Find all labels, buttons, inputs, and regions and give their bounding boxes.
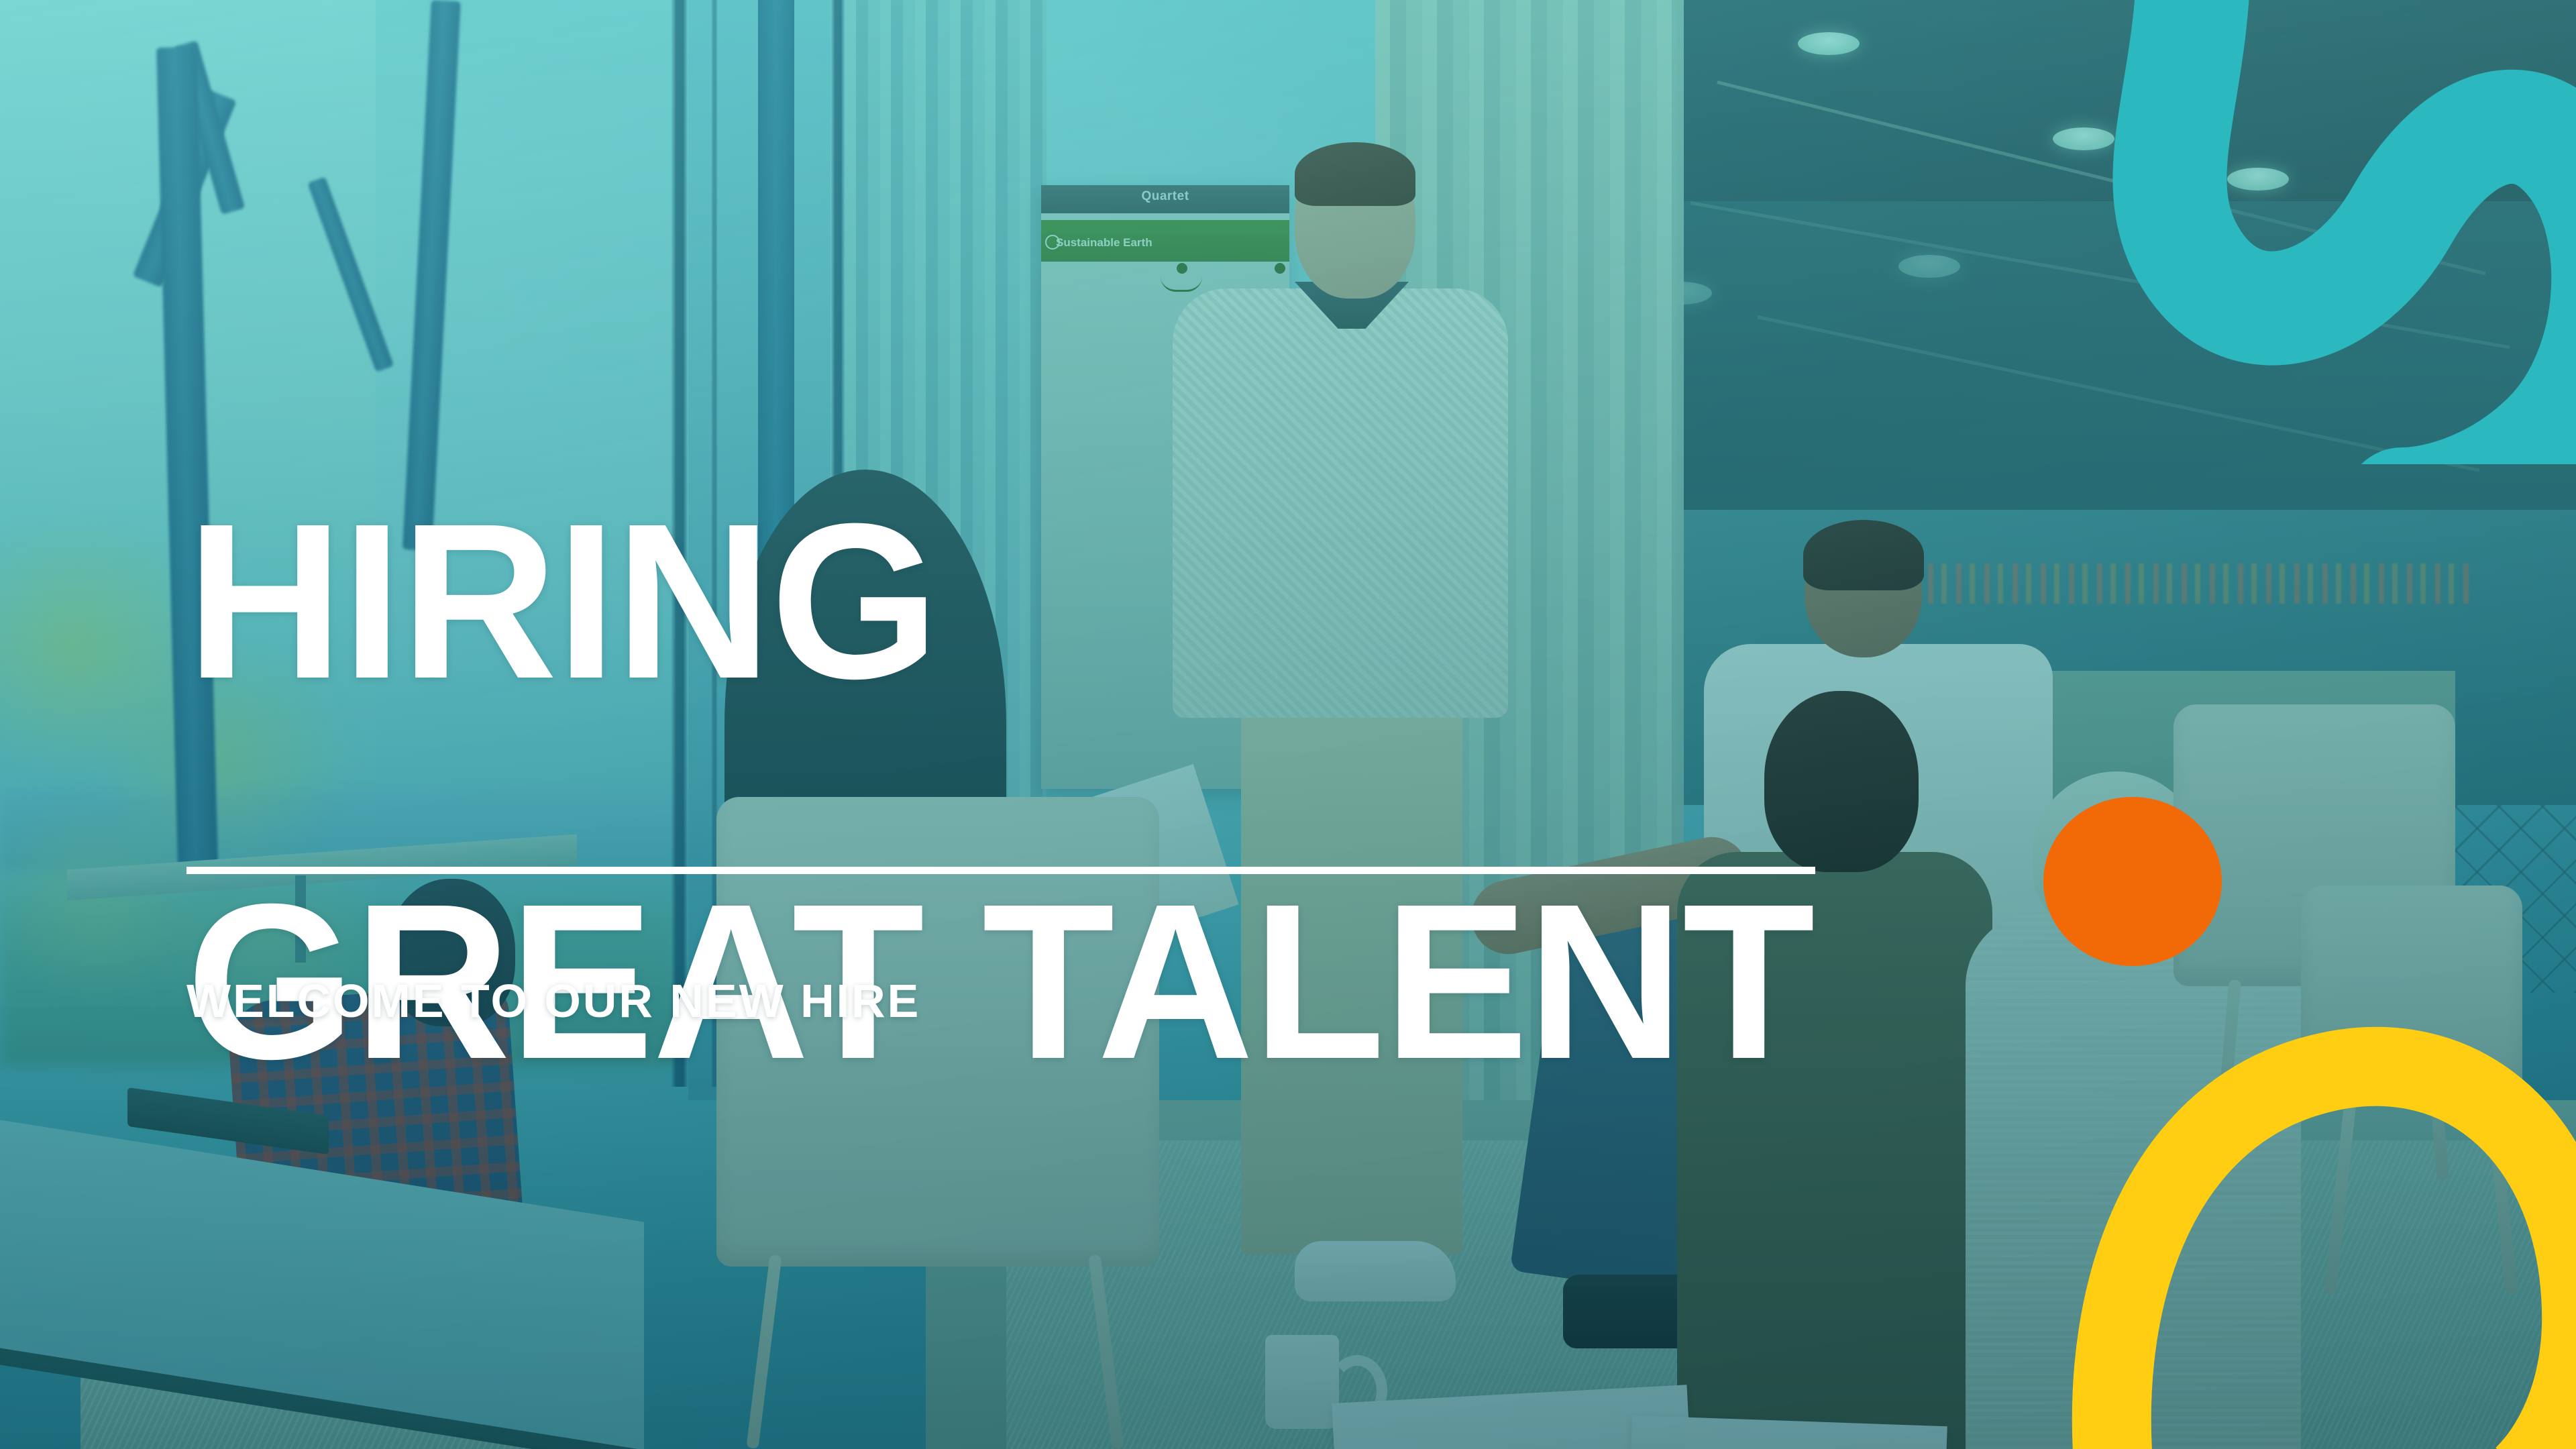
- hiring-banner: Quartet Sustainable Earth: [0, 0, 2576, 1449]
- page-title: HIRING GREAT TALENT: [186, 315, 1814, 1267]
- divider-rule: [186, 867, 1815, 874]
- headline-line-1: HIRING: [186, 506, 1814, 696]
- subtitle: WELCOME TO OUR NEW HIRE: [186, 974, 920, 1028]
- banner-content: HIRING GREAT TALENT WELCOME TO OUR NEW H…: [186, 0, 2199, 1449]
